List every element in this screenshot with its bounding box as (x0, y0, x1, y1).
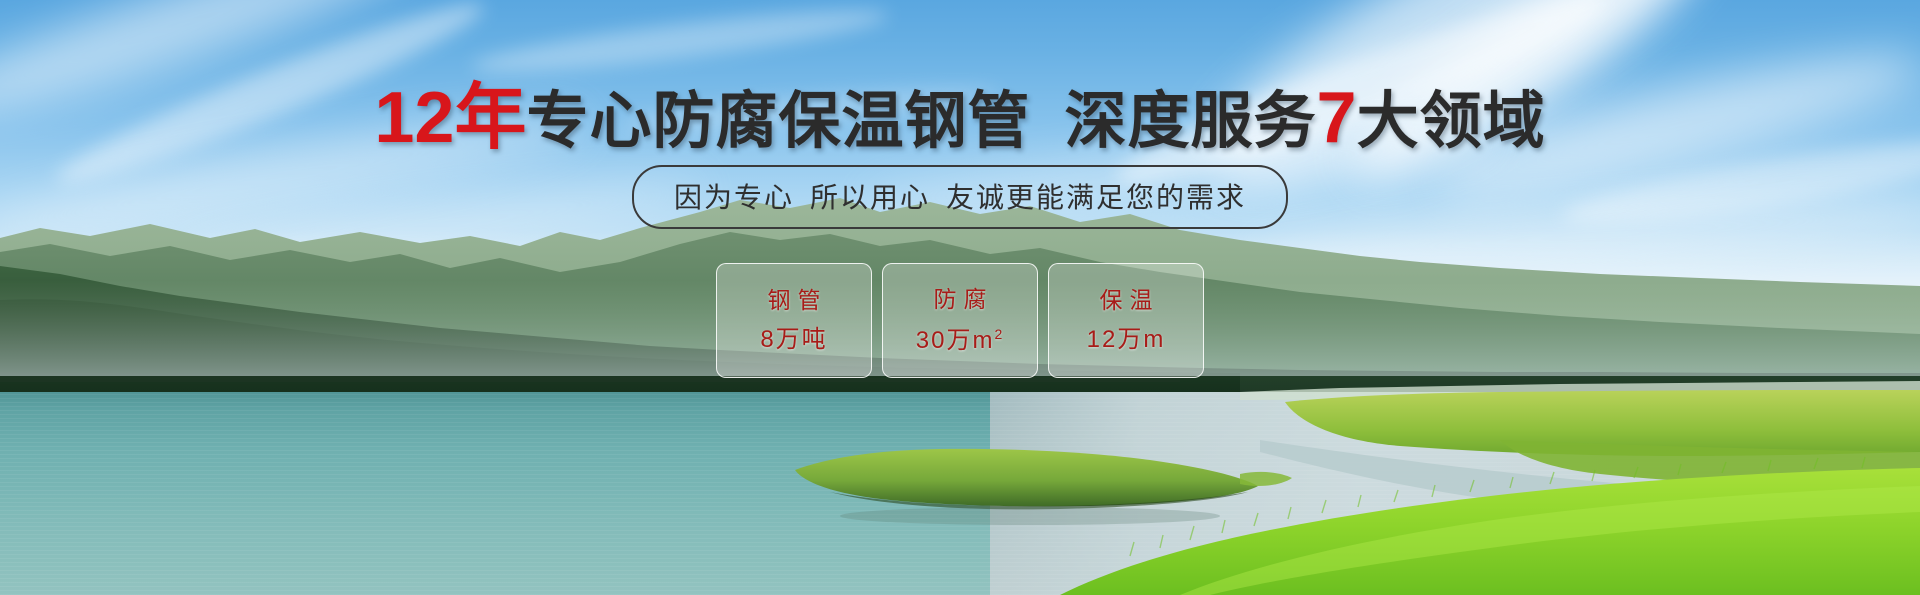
stat-card-value-text: 12万m (1087, 326, 1166, 353)
stat-card-value-text: 8万吨 (760, 326, 827, 353)
hero-banner: 12年专心防腐保温钢管深度服务7大领域 因为专心所以用心友诚更能满足您的需求 钢… (0, 0, 1920, 595)
stat-card-label: 防腐 (927, 288, 994, 311)
subtitle-part-1: 因为专心 (674, 182, 794, 213)
banner-content: 12年专心防腐保温钢管深度服务7大领域 因为专心所以用心友诚更能满足您的需求 钢… (0, 0, 1920, 595)
subtitle-part-3: 友诚更能满足您的需求 (946, 182, 1246, 213)
subtitle-part-2: 所以用心 (810, 182, 930, 213)
headline-years-unit: 年 (454, 78, 526, 158)
stat-card-value: 30万m2 (916, 327, 1004, 353)
headline-fields-number: 7 (1317, 78, 1357, 158)
subtitle-wrapper: 因为专心所以用心友诚更能满足您的需求 (0, 165, 1920, 229)
headline-segment-2: 大领域 (1357, 87, 1546, 156)
stat-card-value-superscript: 2 (994, 326, 1004, 342)
stat-card-value: 8万吨 (760, 328, 827, 352)
stat-card-value-text: 30万m (916, 327, 995, 354)
stat-card-anticorrosion[interactable]: 防腐 30万m2 (882, 263, 1038, 378)
headline: 12年专心防腐保温钢管深度服务7大领域 (0, 82, 1920, 154)
stat-card-list: 钢管 8万吨 防腐 30万m2 保温 12万m (0, 263, 1920, 378)
subtitle-pill: 因为专心所以用心友诚更能满足您的需求 (632, 165, 1288, 229)
stat-card-steel-pipe[interactable]: 钢管 8万吨 (716, 263, 872, 378)
headline-segment-2-lead: 深度服务 (1065, 87, 1317, 156)
stat-card-insulation[interactable]: 保温 12万m (1048, 263, 1204, 378)
headline-years-number: 12 (374, 78, 454, 158)
headline-segment-1: 专心防腐保温钢管 (527, 87, 1031, 156)
stat-card-label: 钢管 (761, 289, 828, 312)
stat-card-value: 12万m (1087, 328, 1166, 352)
stat-card-label: 保温 (1093, 289, 1160, 312)
